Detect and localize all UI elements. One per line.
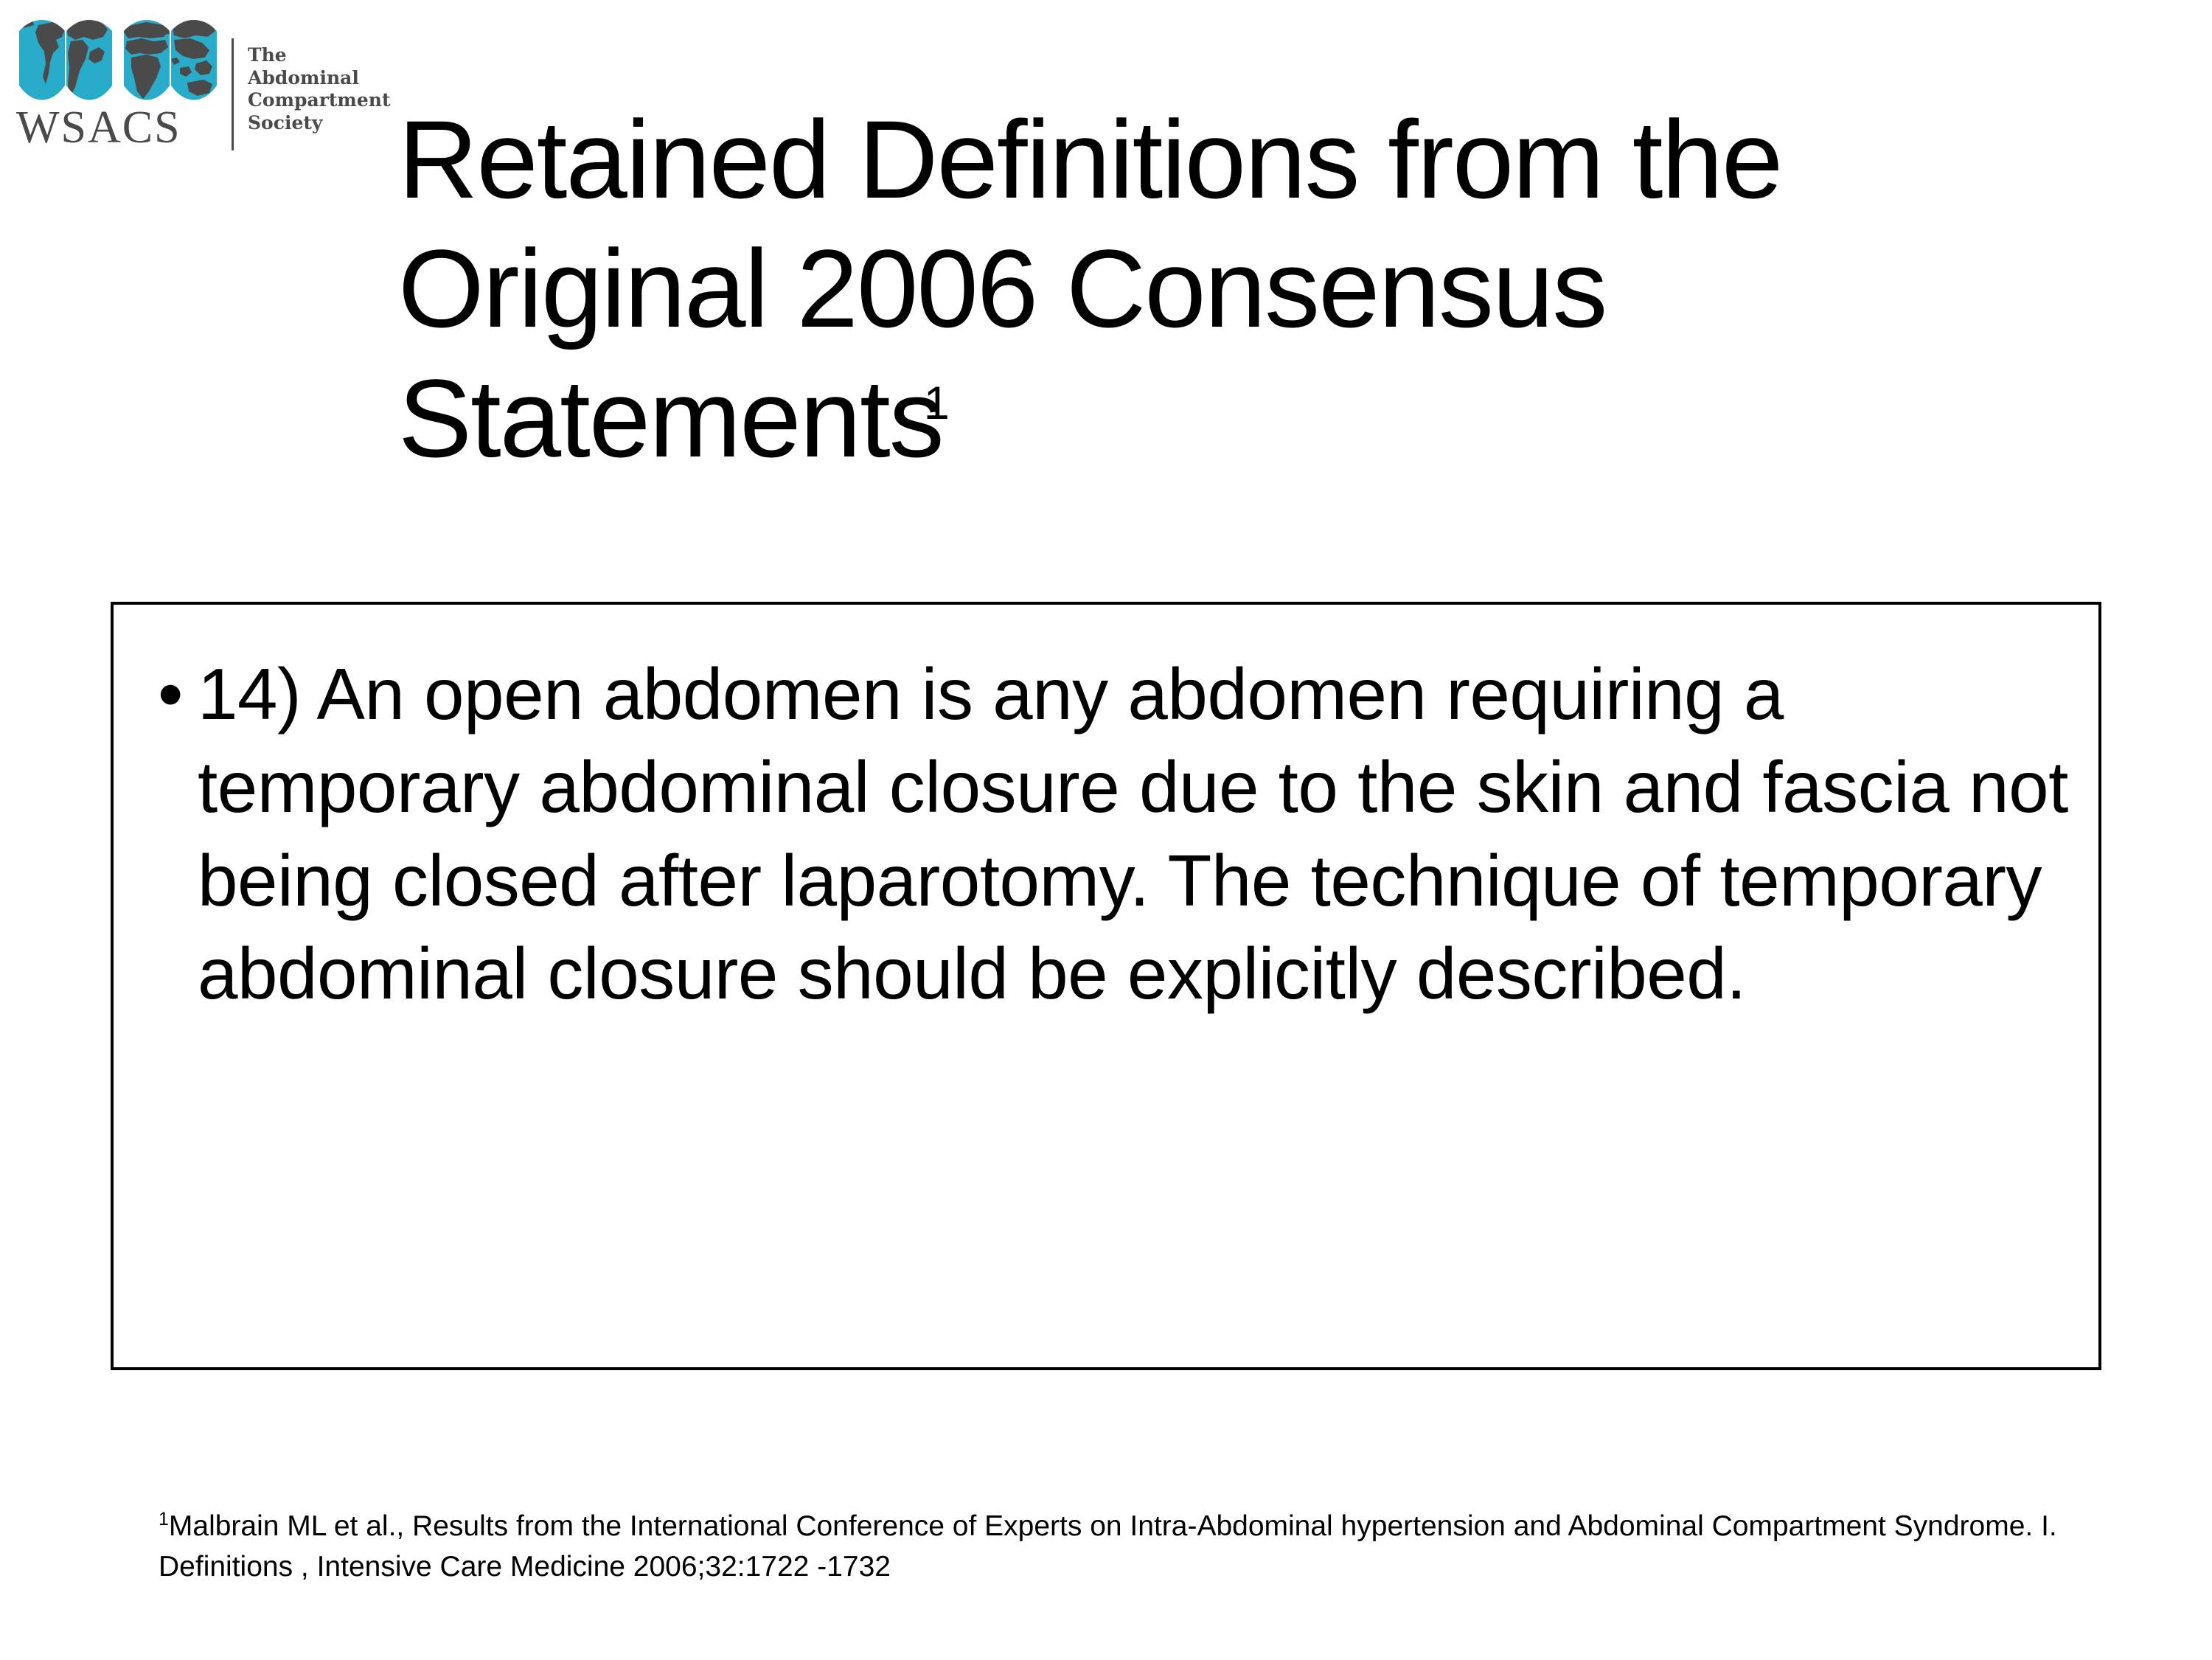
logo-tagline-line-3: Compartment bbox=[248, 89, 391, 112]
logo-tagline-line-4: Society bbox=[248, 112, 391, 135]
wsacs-wordmark: WSACS bbox=[16, 105, 224, 150]
wsacs-logo: WSACS The Abdominal Compartment Society bbox=[10, 10, 394, 150]
slide-title-line-2: Original 2006 Consensus bbox=[398, 226, 1606, 350]
logo-tagline-line-1: The bbox=[248, 44, 391, 67]
definition-content-box: • 14) An open abdomen is any abdomen req… bbox=[111, 602, 2101, 1370]
bullet-list-item: • 14) An open abdomen is any abdomen req… bbox=[158, 647, 2069, 1021]
footnote-citation: 1Malbrain ML et al., Results from the In… bbox=[159, 1506, 2149, 1588]
slide-title-line-3: Statements bbox=[398, 356, 943, 480]
wsacs-world-map-logo-icon bbox=[16, 15, 223, 111]
logo-tagline-line-2: Abdominal bbox=[248, 67, 391, 90]
slide-title-footnote-marker: 1 bbox=[924, 378, 950, 429]
footnote-marker: 1 bbox=[159, 1509, 169, 1529]
footnote-text: Malbrain ML et al., Results from the Int… bbox=[159, 1510, 2057, 1583]
slide-title: Retained Definitions from the Original 2… bbox=[398, 95, 2109, 484]
slide-title-line-1: Retained Definitions from the bbox=[398, 97, 1781, 221]
logo-tagline: The Abdominal Compartment Society bbox=[248, 44, 391, 134]
definition-text: 14) An open abdomen is any abdomen requi… bbox=[198, 647, 2069, 1021]
bullet-marker-icon: • bbox=[158, 647, 198, 740]
logo-divider bbox=[232, 38, 234, 150]
